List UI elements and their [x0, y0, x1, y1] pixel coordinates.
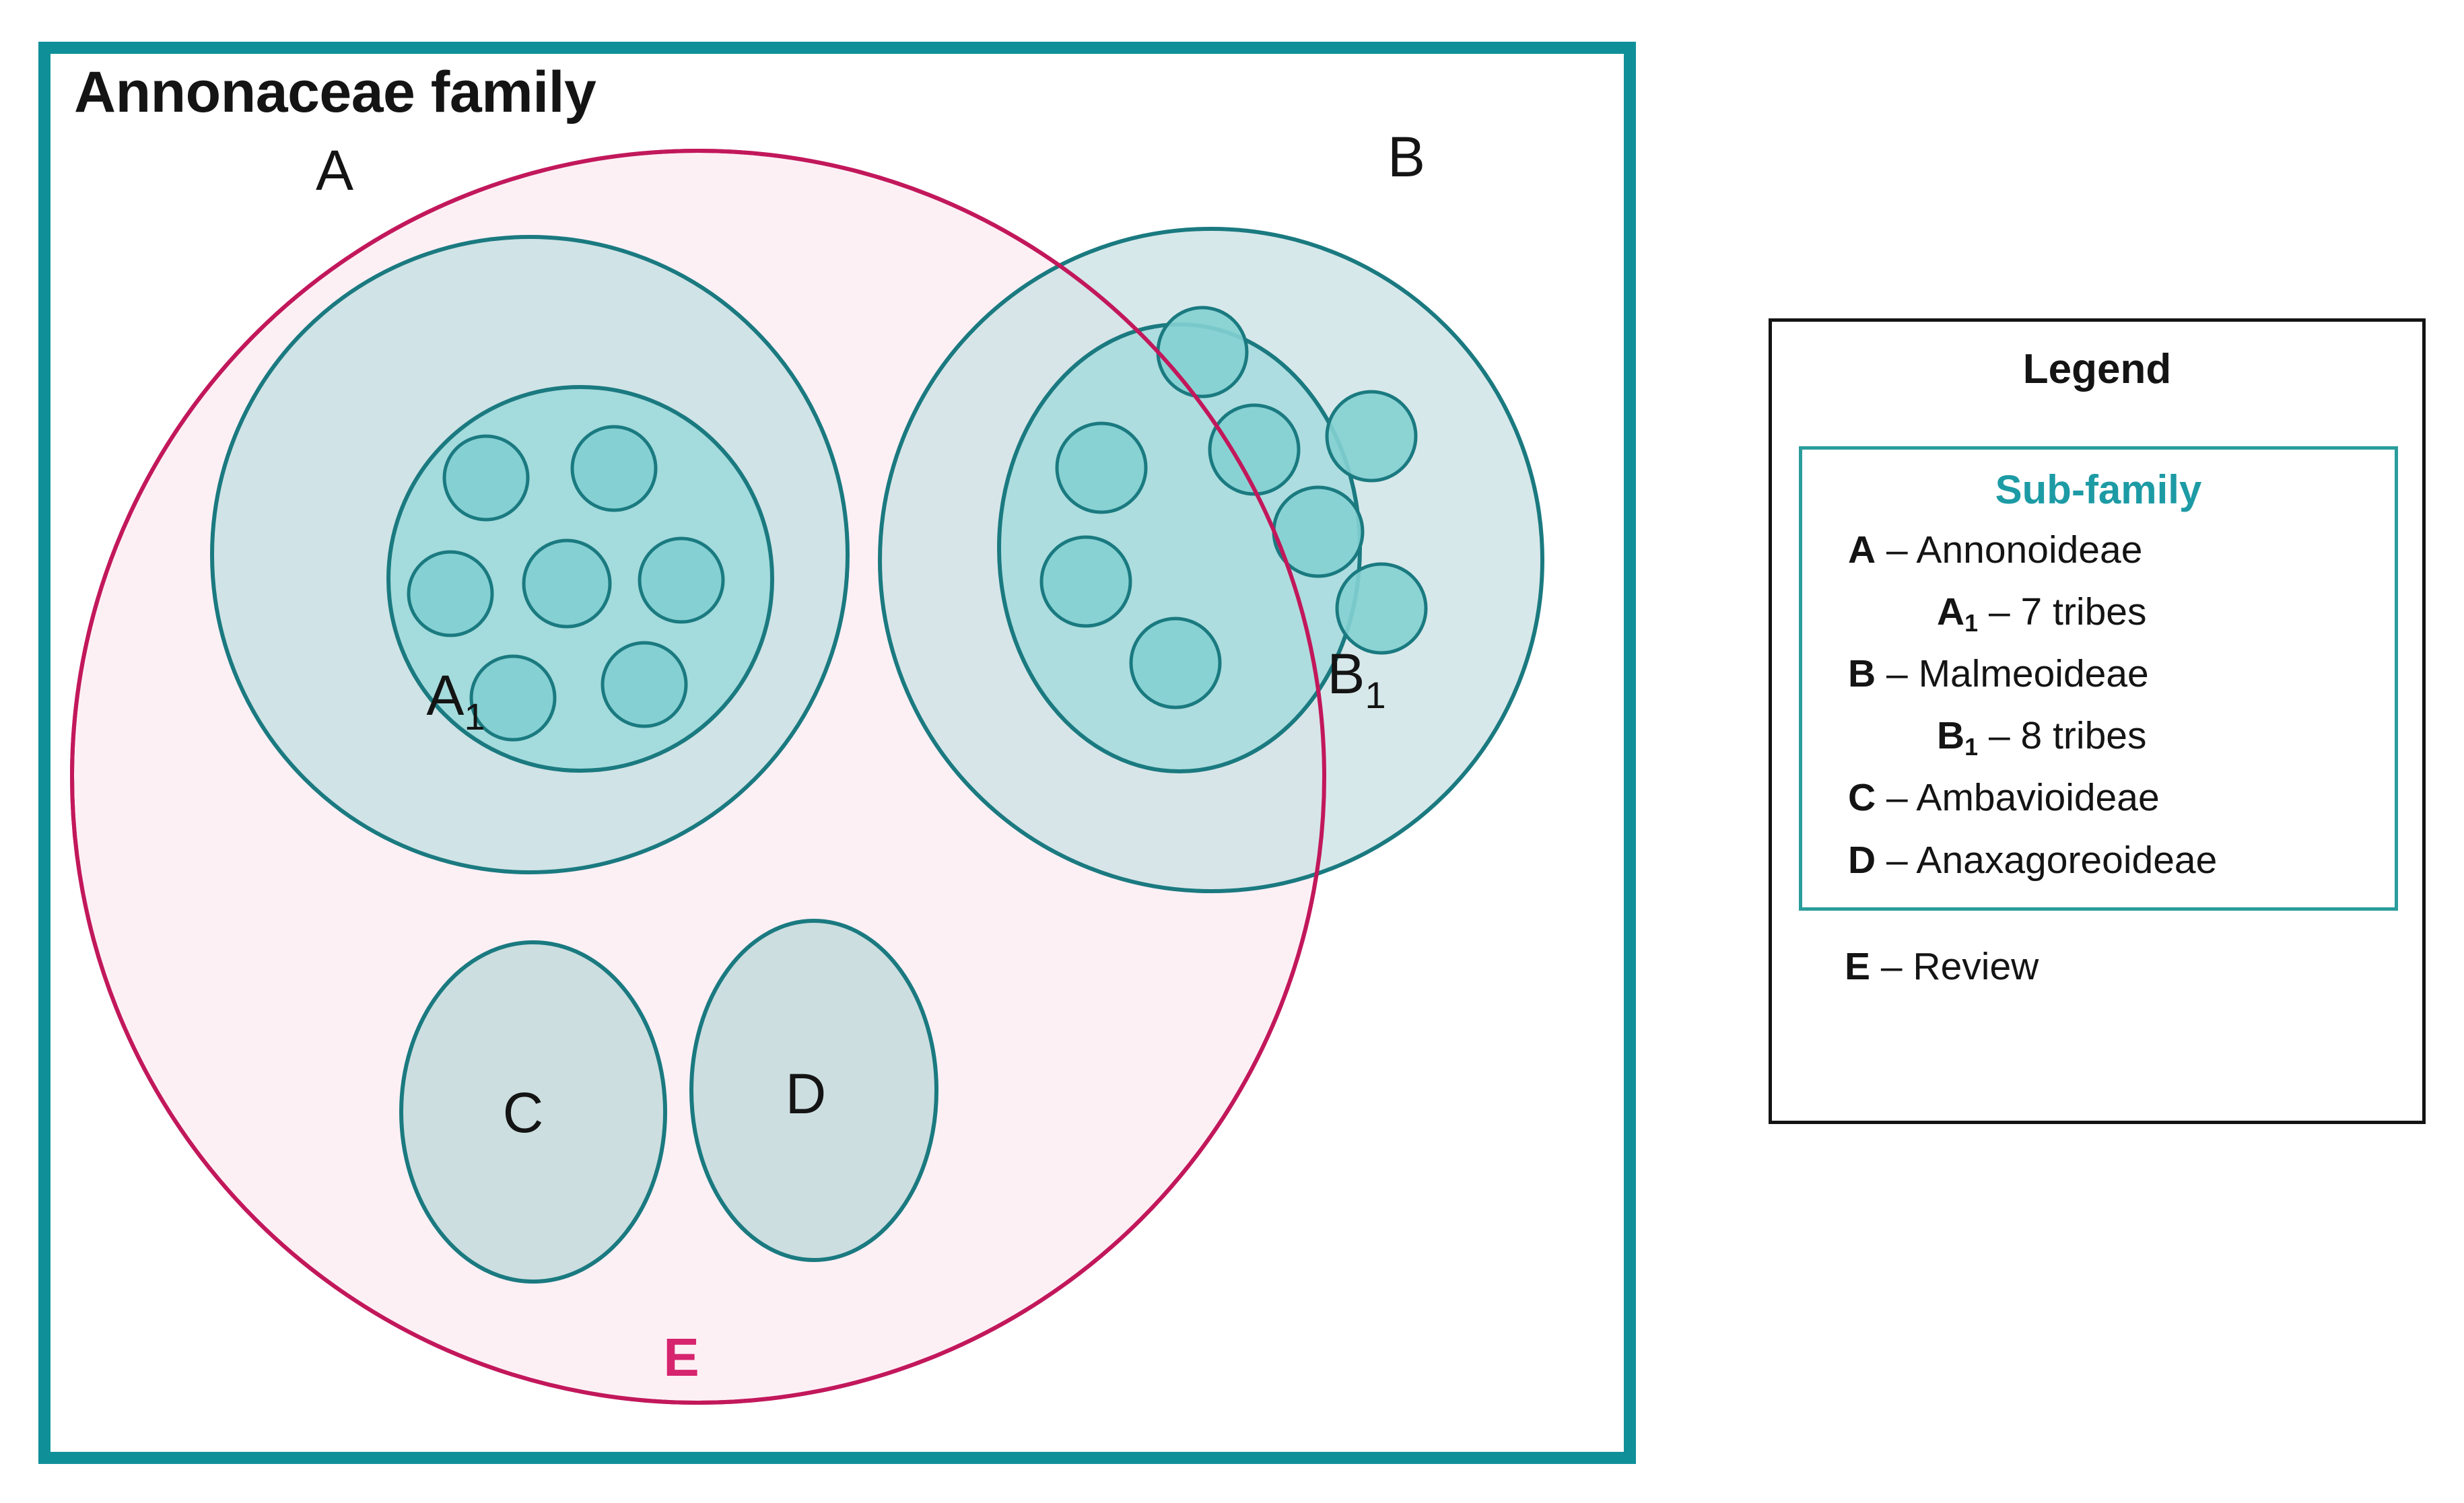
tribe-circle: [1041, 537, 1130, 626]
tribe-circle: [1337, 564, 1426, 653]
legend-entry-text: Ambavioideae: [1916, 776, 2159, 819]
tribe-circle: [1158, 308, 1247, 396]
legend-subfamily-box: Sub-family A – Annonoideae A1 – 7 tribes…: [1799, 446, 2398, 911]
legend-entry-e: E – Review: [1772, 944, 2422, 989]
legend-entry-key: A: [1848, 528, 1876, 571]
tribe-circle: [640, 538, 723, 622]
legend-entry-b: B – Malmeoideae: [1802, 652, 2395, 696]
legend-entry-dash: [1876, 528, 1886, 571]
set-label-d: D: [786, 1062, 827, 1125]
legend-dash: –: [1886, 776, 1908, 819]
legend-dash: –: [1886, 652, 1908, 695]
set-label-e: E: [663, 1327, 699, 1387]
tribe-circle: [1210, 405, 1299, 494]
set-label-b: B: [1388, 125, 1425, 188]
legend-entry-subscript: 1: [1964, 609, 1978, 637]
legend-entry-d: D – Anaxagoreoideae: [1802, 838, 2395, 882]
legend-dash: –: [1886, 528, 1908, 571]
legend-entry-key: B: [1848, 652, 1876, 695]
legend-title: Legend: [1772, 349, 2422, 390]
legend-entry-key: B1: [1937, 714, 1978, 757]
set-label-a: A: [316, 139, 353, 202]
legend-subfamily-heading: Sub-family: [1802, 470, 2395, 510]
legend-entry-text: 7 tribes: [2021, 590, 2147, 633]
legend-dash: –: [1989, 590, 2010, 633]
tribe-circle: [524, 540, 610, 627]
legend-entry-subscript: 1: [1964, 733, 1978, 761]
legend-entry-key: A1: [1937, 590, 1978, 633]
legend-entry-key: C: [1848, 776, 1876, 819]
legend-entry-key: D: [1848, 839, 1876, 882]
legend-dash: –: [1989, 714, 2010, 757]
tribe-circle: [572, 427, 656, 510]
tribe-circle: [1057, 423, 1146, 512]
legend-entry-a1: A1 – 7 tribes: [1802, 590, 2395, 634]
tribe-circle: [1131, 619, 1220, 707]
legend-entry-text: Annonoideae: [1916, 528, 2142, 571]
diagram-canvas: Annonaceae family: [0, 0, 2464, 1503]
legend-dash: –: [1881, 945, 1903, 988]
legend-entry-b1: B1 – 8 tribes: [1802, 713, 2395, 758]
legend-panel: Legend Sub-family A – Annonoideae A1 – 7…: [1769, 318, 2426, 1124]
legend-entry-text: 8 tribes: [2021, 714, 2147, 757]
legend-entry-key: E: [1845, 945, 1870, 988]
legend-entry-c: C – Ambavioideae: [1802, 775, 2395, 820]
venn-diagram-svg: A A1 B B1 C D E: [38, 42, 1636, 1464]
legend-entry-text: Anaxagoreoideae: [1916, 839, 2217, 882]
legend-entry-a: A – Annonoideae: [1802, 528, 2395, 572]
legend-dash: –: [1886, 839, 1908, 882]
legend-entry-text: Review: [1913, 945, 2039, 988]
tribe-circle: [603, 643, 686, 726]
tribe-circle: [444, 436, 528, 520]
legend-entry-text: Malmeoideae: [1919, 652, 2149, 695]
tribe-circle: [1327, 392, 1416, 481]
tribe-circle: [409, 552, 492, 635]
set-label-c: C: [503, 1081, 544, 1144]
